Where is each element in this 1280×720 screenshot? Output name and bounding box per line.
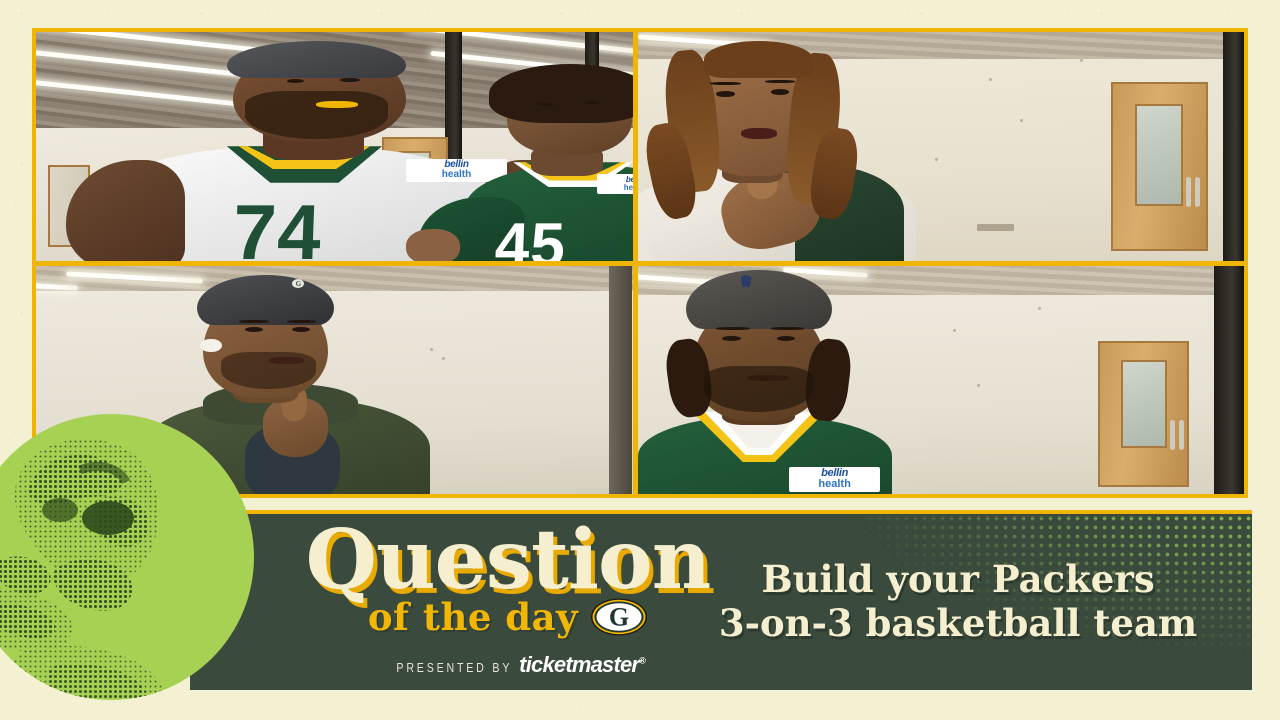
player-beard (704, 366, 813, 412)
player-45-jersey-number: 45 (494, 210, 567, 260)
presented-by-label: PRESENTED BY (396, 660, 512, 675)
player-45-sponsor-patch: bellin health (597, 174, 633, 195)
player-45-eye (585, 101, 599, 104)
pillar (1223, 32, 1244, 261)
series-title-block: Question of the day G PRESENTED BY ticke… (248, 522, 768, 678)
player-eye (771, 89, 789, 94)
player-photo-top-right (638, 32, 1245, 261)
pillar (1214, 266, 1244, 495)
player-74-sponsor-patch: bellin health (406, 159, 507, 182)
player-beard (221, 352, 316, 389)
question-text: Build your Packers 3-on-3 basketball tea… (698, 558, 1218, 645)
video-thumbnail-graphic: 74 bellin health 45 bellin health (0, 0, 1280, 720)
title-banner: Question of the day G PRESENTED BY ticke… (190, 510, 1252, 690)
player-photo-top-left: 74 bellin health 45 bellin health (36, 32, 633, 261)
door-window (1135, 104, 1183, 206)
presented-by-row: PRESENTED BY ticketmaster® (248, 652, 768, 678)
series-title-sub: of the day (368, 595, 578, 639)
sponsor-line-2: health (624, 184, 633, 192)
nfl-shield-logo (741, 275, 752, 288)
door-handle (1186, 177, 1191, 207)
registered-mark: ® (639, 656, 645, 666)
green-bay-packers-g-logo: G (590, 597, 648, 637)
door (1098, 341, 1189, 487)
question-line-1: Build your Packers (698, 558, 1218, 602)
player-eyebrow (765, 80, 795, 83)
door-handle (1170, 420, 1175, 450)
player-sponsor-patch: bellin health (789, 467, 880, 492)
player-earbud (200, 339, 221, 353)
question-line-2: 3-on-3 basketball team (698, 602, 1218, 646)
player-eye (716, 91, 734, 96)
player-45-hand (406, 229, 460, 261)
player-74-eye (287, 79, 305, 83)
svg-text:G: G (609, 603, 629, 632)
sponsor-line-2: health (818, 479, 850, 490)
door-window (1121, 360, 1166, 448)
series-title-main: Question (248, 522, 768, 599)
wall-fixture (977, 224, 1013, 231)
player-74-jersey-number: 74 (231, 187, 323, 260)
thinker-statue-badge (0, 414, 254, 700)
player-74-mouthguard (316, 101, 358, 108)
door (1111, 82, 1208, 251)
player-mouth (741, 128, 777, 139)
ticketmaster-text: ticketmaster (519, 652, 639, 677)
pillar (609, 266, 633, 495)
player-45-hair (489, 64, 632, 123)
sponsor-line-2: health (442, 170, 471, 180)
ticketmaster-wordmark: ticketmaster® (519, 652, 645, 678)
player-hairline (704, 41, 813, 78)
thinker-statue-illustration (0, 414, 254, 700)
player-photo-bottom-right: bellin health (638, 266, 1245, 495)
